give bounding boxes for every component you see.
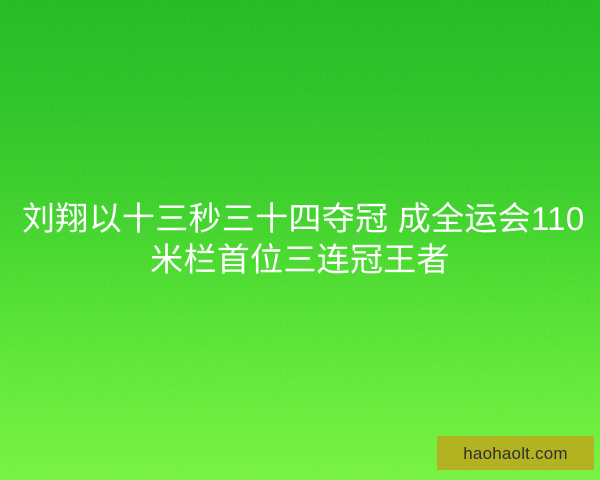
- headline-line-2: 米栏首位三连冠王者: [22, 239, 578, 280]
- image-canvas: 刘翔以十三秒三十四夺冠 成全运会110 米栏首位三连冠王者 haohaolt.c…: [0, 0, 600, 480]
- headline-text: 刘翔以十三秒三十四夺冠 成全运会110 米栏首位三连冠王者: [0, 198, 600, 280]
- watermark-label: haohaolt.com: [463, 445, 567, 462]
- headline-line-1: 刘翔以十三秒三十四夺冠 成全运会110: [22, 198, 578, 239]
- watermark-badge: haohaolt.com: [437, 436, 594, 470]
